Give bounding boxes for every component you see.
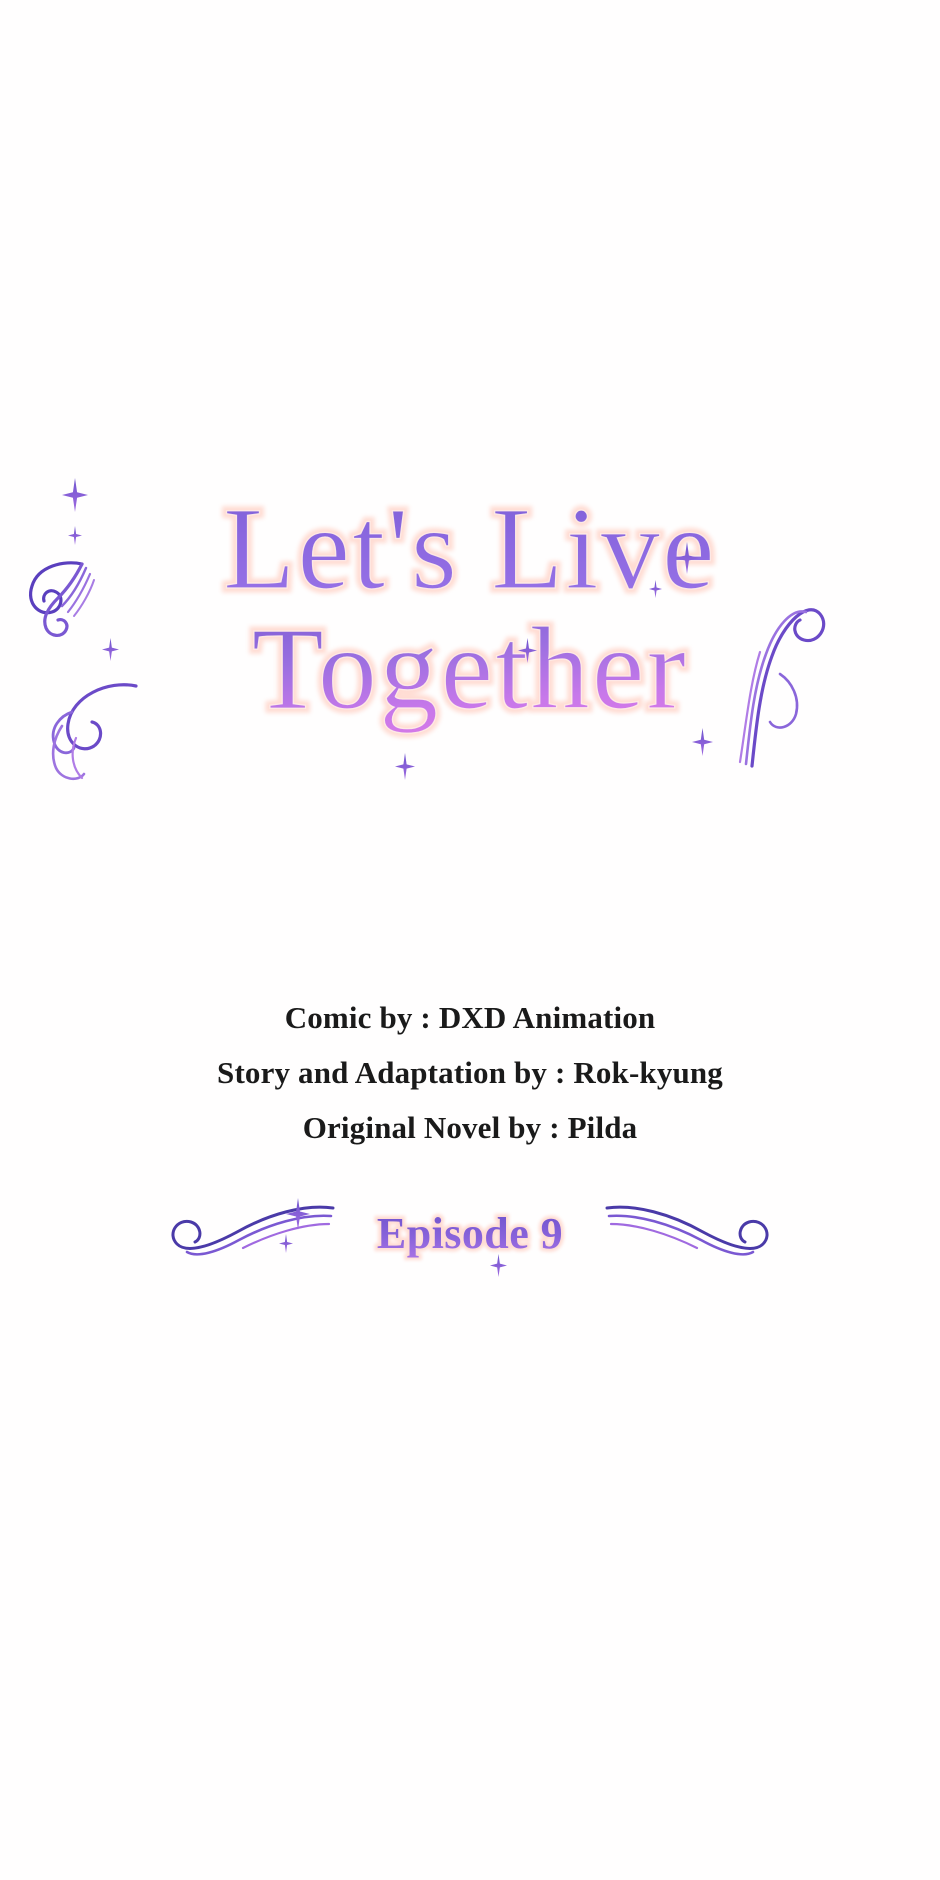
episode-label-text: Episode 9 [377,1209,563,1258]
episode-row: Episode 9 Episode 9 [0,1182,940,1302]
credit-line-comic-by: Comic by : DXD Animation [0,998,940,1039]
title-line-1: Let's Live Let's Live Let's Live [0,490,940,608]
title-line-2-stroke: Together [0,610,940,728]
credit-line-original-novel: Original Novel by : Pilda [0,1108,940,1149]
sparkle-icon-7 [692,728,713,756]
episode-label: Episode 9 Episode 9 [0,1208,940,1259]
title-line-1-stroke: Let's Live [0,490,940,608]
credits-block: Comic by : DXD Animation Story and Adapt… [0,998,940,1149]
series-title-block: Let's Live Let's Live Let's Live Togethe… [0,470,940,810]
credit-line-story-adaptation: Story and Adaptation by : Rok-kyung [0,1053,940,1094]
sparkle-icon-8 [395,753,415,780]
title-line-2: Together Together Together [0,610,940,728]
title-card-page: Let's Live Let's Live Let's Live Togethe… [0,0,940,1880]
